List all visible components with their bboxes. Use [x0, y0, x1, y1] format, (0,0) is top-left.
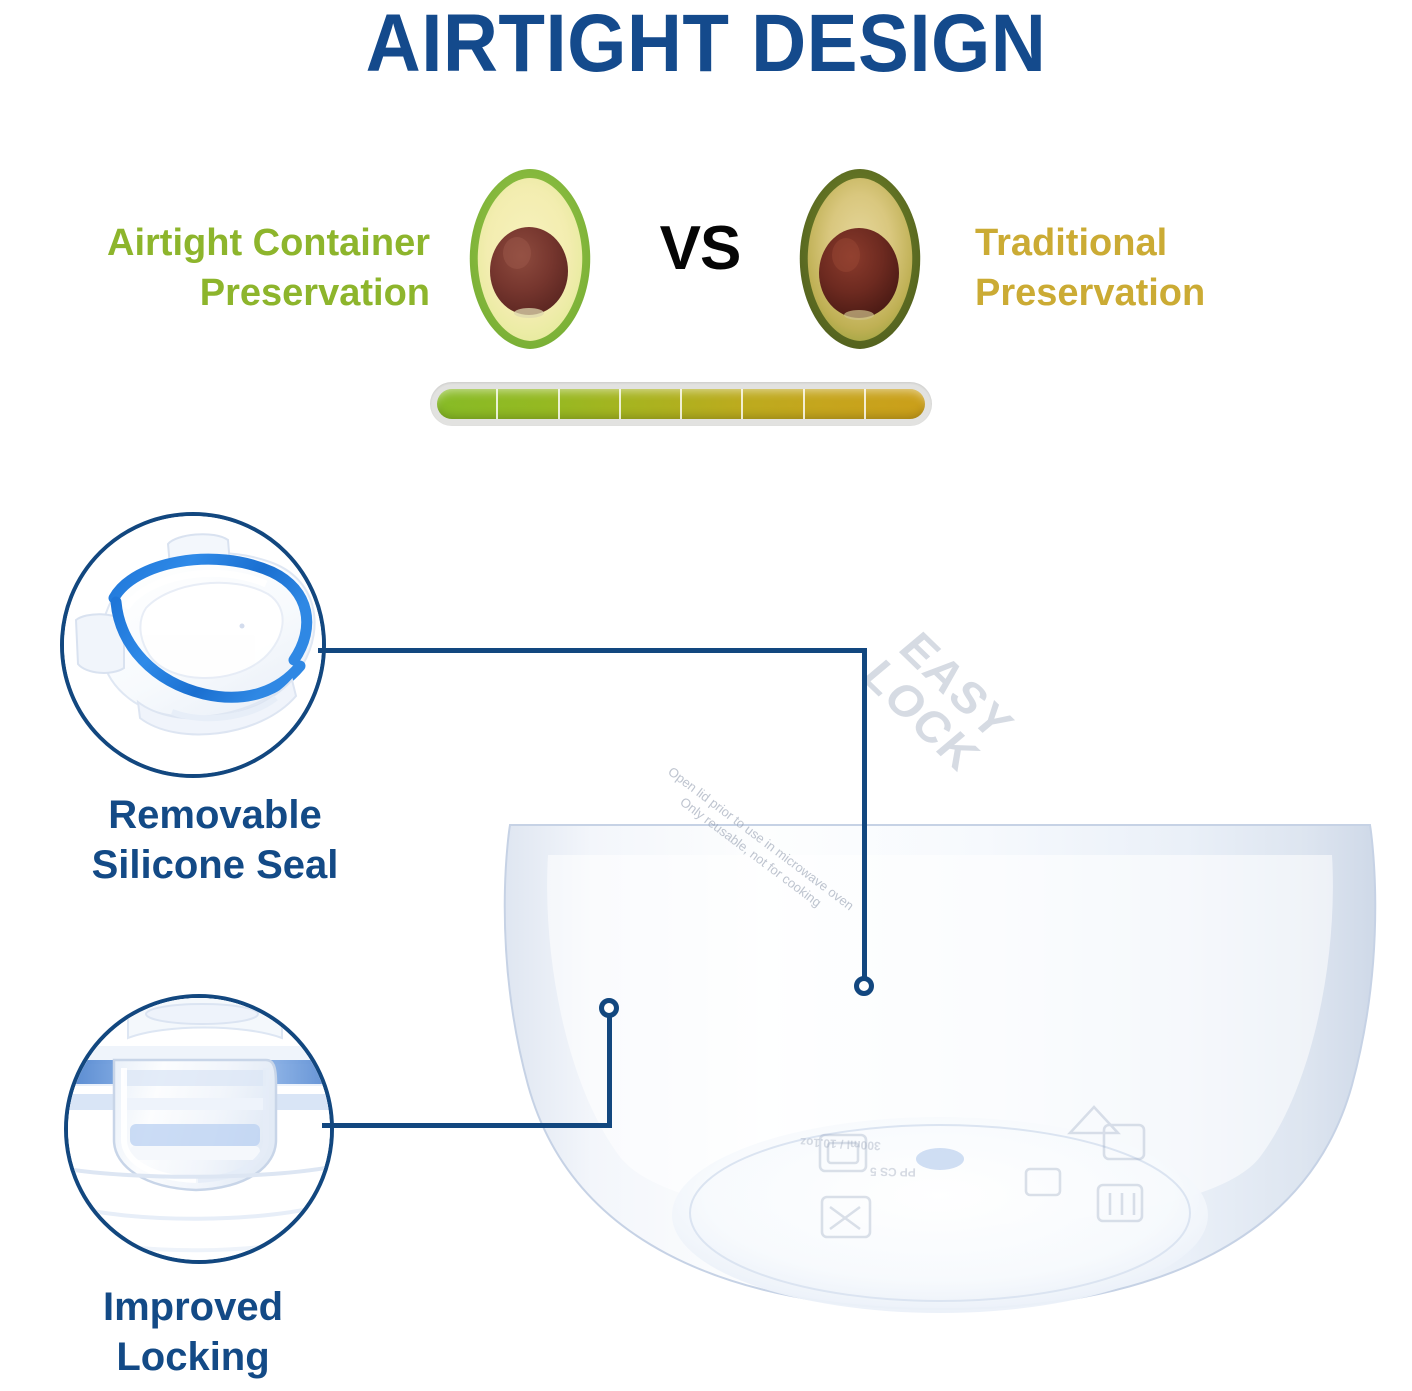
- airtight-preservation-label-line1: Airtight Container: [10, 218, 430, 268]
- leader-line-lock-horizontal: [322, 1123, 612, 1128]
- freshness-bar-segment: [866, 389, 925, 419]
- product-container-image: EASY LOCK Open lid prior to use in micro…: [470, 525, 1410, 1325]
- traditional-preservation-label-line1: Traditional: [975, 218, 1395, 268]
- callout-label-silicone-seal-line1: Removable: [20, 790, 410, 840]
- traditional-preservation-label: Traditional Preservation: [975, 218, 1395, 318]
- freshness-bar-segment: [437, 389, 498, 419]
- freshness-gradient-fill: [437, 389, 925, 419]
- freshness-gradient-bar: [430, 382, 932, 426]
- freshness-bar-segment: [743, 389, 804, 419]
- freshness-bar-segment: [560, 389, 621, 419]
- traditional-preservation-label-line2: Preservation: [975, 268, 1395, 318]
- freshness-bar-segment: [805, 389, 866, 419]
- airtight-preservation-label-line2: Preservation: [10, 268, 430, 318]
- leader-line-lock-vertical: [607, 1010, 612, 1128]
- callout-circle-silicone-seal: [60, 512, 326, 778]
- vs-label: VS: [620, 218, 780, 280]
- callout-label-silicone-seal: Removable Silicone Seal: [20, 790, 410, 890]
- freshness-bar-segment: [682, 389, 743, 419]
- freshness-bar-segments: [437, 389, 925, 419]
- callout-label-improved-locking-line2: Locking: [28, 1332, 358, 1382]
- leader-endpoint-seal: [854, 976, 874, 996]
- freshness-bar-segment: [498, 389, 559, 419]
- infographic-page: AIRTIGHT DESIGN Airtight Container Prese…: [0, 0, 1412, 1391]
- page-title: AIRTIGHT DESIGN: [49, 2, 1362, 86]
- callout-label-improved-locking: Improved Locking: [28, 1282, 358, 1382]
- browned-avocado-icon: [785, 165, 935, 355]
- callout-circle-improved-locking: [64, 994, 334, 1264]
- callout-label-silicone-seal-line2: Silicone Seal: [20, 840, 410, 890]
- airtight-preservation-label: Airtight Container Preservation: [10, 218, 430, 318]
- freshness-bar-segment: [621, 389, 682, 419]
- leader-line-seal-vertical: [862, 648, 867, 988]
- leader-line-seal-horizontal: [318, 648, 867, 653]
- fresh-avocado-icon: [455, 165, 605, 355]
- leader-endpoint-lock: [599, 998, 619, 1018]
- callout-label-improved-locking-line1: Improved: [28, 1282, 358, 1332]
